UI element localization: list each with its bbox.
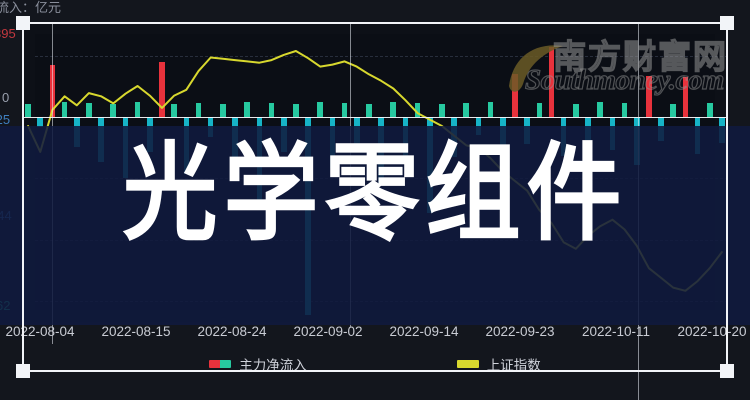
frame-corner-handle-br[interactable]: [720, 364, 734, 378]
zero-reference-line: [22, 117, 728, 118]
frame-corner-handle-tr[interactable]: [720, 16, 734, 30]
x-axis-labels: 2022-08-042022-08-152022-08-242022-09-02…: [0, 324, 750, 346]
y-axis-label: 395: [0, 26, 16, 41]
frame-corner-handle-bl[interactable]: [16, 364, 30, 378]
x-axis-label: 2022-08-15: [101, 324, 170, 339]
chart-header-text: 流入：亿元: [0, 0, 61, 16]
frame-left-edge: [22, 22, 24, 372]
x-axis-label: 2022-09-02: [293, 324, 362, 339]
chart-legend: 主力净流入 上证指数: [0, 352, 750, 376]
y-axis-label: 0: [2, 90, 9, 105]
frame-bottom-edge: [22, 370, 728, 372]
overlay-title-container: 光学零组件: [0, 134, 750, 254]
x-axis-label: 2022-09-23: [485, 324, 554, 339]
x-axis-label: 2022-10-11: [582, 324, 650, 339]
x-axis-label: 2022-10-20: [677, 324, 746, 339]
page-title: 光学零组件: [122, 141, 627, 247]
legend-marker-icon: [209, 360, 231, 368]
x-axis-label: 2022-08-04: [5, 324, 74, 339]
legend-marker-icon: [457, 360, 479, 368]
y-axis-label: .25: [0, 112, 10, 127]
frame-top-edge: [22, 22, 728, 24]
frame-right-edge: [726, 22, 728, 372]
x-axis-label: 2022-08-24: [197, 324, 266, 339]
x-axis-label: 2022-09-14: [389, 324, 458, 339]
frame-corner-handle-tl[interactable]: [16, 16, 30, 30]
screenshot-root: 流入：亿元 3950.2564462 光学零组件 南方财富网 Southmone…: [0, 0, 750, 400]
